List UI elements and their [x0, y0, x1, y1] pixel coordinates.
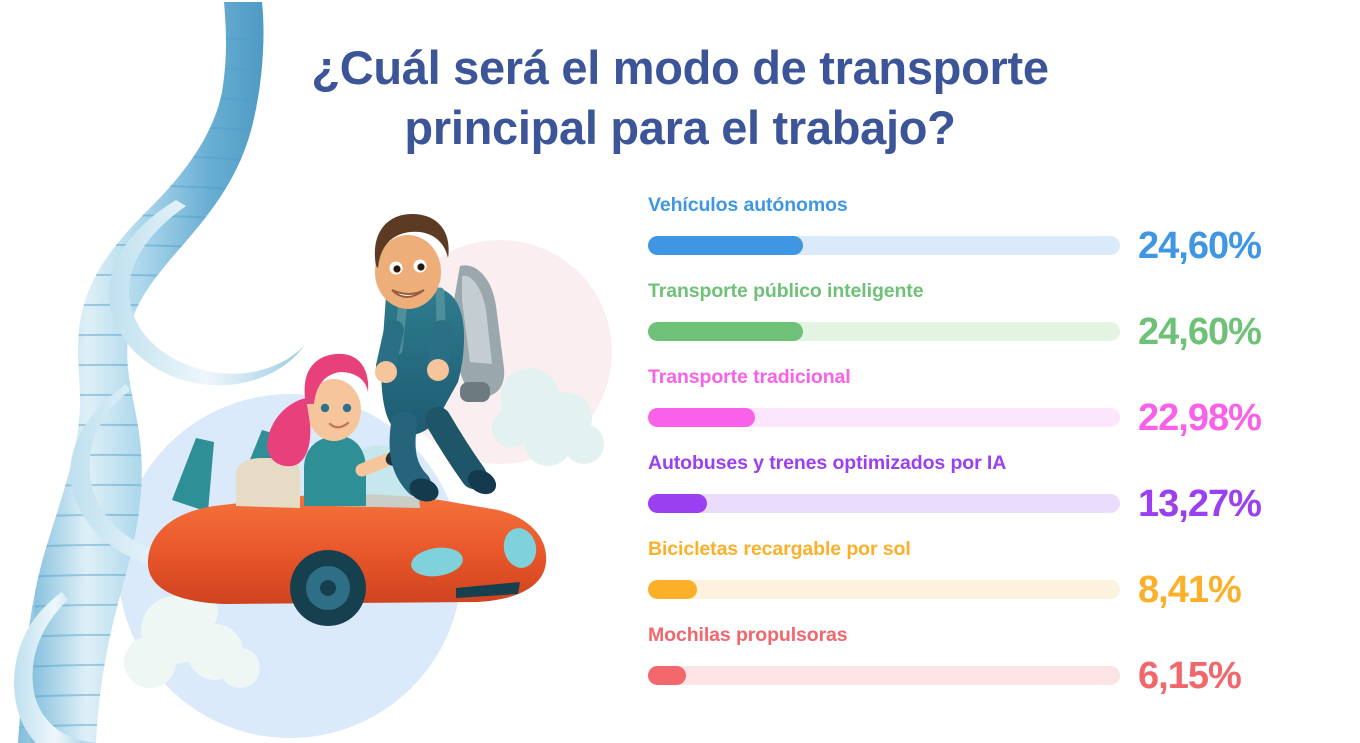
tower-spiral-upper	[109, 200, 304, 385]
girl-driver	[267, 354, 417, 506]
jetpack-man-fist-right	[427, 359, 449, 381]
bar-row: Transporte tradicional22,98%	[648, 368, 1320, 454]
bar-track	[648, 494, 1120, 513]
jetpack-man-leg-left	[403, 424, 418, 484]
bar-row-label: Mochilas propulsoras	[648, 626, 1320, 657]
car-body	[148, 494, 546, 604]
bar-fill	[648, 666, 686, 685]
bar-track	[648, 236, 1120, 255]
steering-wheel	[383, 442, 418, 470]
jetpack-man-arm-right	[438, 330, 442, 364]
bar-row: Transporte público inteligente24,60%	[648, 282, 1320, 368]
girl-eye-left	[321, 404, 329, 412]
bar-line: 8,41%	[648, 571, 1320, 609]
bar-row-label: Bicicletas recargable por sol	[648, 540, 1320, 571]
page-title: ¿Cuál será el modo de transporte princip…	[180, 38, 1180, 158]
bar-fill	[648, 408, 755, 427]
bar-chart: Vehículos autónomos24,60%Transporte públ…	[648, 196, 1320, 712]
jetpack-man-eye-right	[417, 263, 424, 270]
bar-row: Autobuses y trenes optimizados por IA13,…	[648, 454, 1320, 540]
jetpack-man-smile	[392, 290, 424, 297]
bar-fill	[648, 236, 803, 255]
bar-track	[648, 408, 1120, 427]
bar-line: 6,15%	[648, 657, 1320, 695]
jetpack-man-hair	[375, 214, 449, 268]
page-title-line-2: principal para el trabajo?	[180, 98, 1180, 158]
flying-car-girl-illustration	[124, 354, 546, 688]
jetpack-strap-right	[440, 292, 442, 348]
bar-row-label: Transporte tradicional	[648, 368, 1320, 399]
infographic-page: ¿Cuál será el modo de transporte princip…	[0, 0, 1360, 743]
bar-value-label: 6,15%	[1138, 657, 1241, 695]
jetpack-man-face	[375, 235, 441, 309]
bar-value-label: 22,98%	[1138, 399, 1261, 437]
jetpack-man-torso	[381, 285, 464, 435]
girl-smile	[330, 423, 348, 427]
bar-value-label: 13,27%	[1138, 485, 1261, 523]
bar-value-label: 24,60%	[1138, 313, 1261, 351]
jetpack-man-shoe-left	[406, 475, 442, 506]
girl-shirt	[304, 436, 366, 506]
jetpack-man-leg-right	[438, 420, 474, 476]
bar-row-label: Vehículos autónomos	[648, 196, 1320, 227]
girl-eye-right	[343, 404, 351, 412]
jetpack-man-illustration	[375, 214, 604, 505]
car-headlight-front	[500, 525, 540, 571]
jetpack-pack	[454, 265, 504, 402]
bar-row: Mochilas propulsoras6,15%	[648, 626, 1320, 712]
page-title-line-1: ¿Cuál será el modo de transporte	[180, 38, 1180, 98]
bar-line: 13,27%	[648, 485, 1320, 523]
car-exhaust-cloud	[124, 590, 260, 688]
bar-fill	[648, 322, 803, 341]
bar-value-label: 8,41%	[1138, 571, 1241, 609]
car-backdrop-circle	[118, 394, 462, 738]
bar-track	[648, 580, 1120, 599]
jetpack-backdrop-circle	[388, 240, 612, 464]
car-windshield	[330, 445, 420, 508]
car-fin-right	[236, 430, 282, 506]
girl-face	[307, 379, 361, 441]
bar-fill	[648, 494, 707, 513]
jetpack-man-fist-left	[375, 361, 397, 383]
bar-track	[648, 666, 1120, 685]
bar-row: Vehículos autónomos24,60%	[648, 196, 1320, 282]
car-seat	[236, 458, 300, 508]
bar-line: 22,98%	[648, 399, 1320, 437]
car-grille	[456, 582, 520, 598]
jetpack-strap-left	[398, 292, 404, 350]
girl-arm	[362, 458, 392, 470]
jetpack-man-arm-left	[386, 330, 394, 366]
car-headlight-rear	[409, 545, 464, 580]
bar-line: 24,60%	[648, 227, 1320, 265]
bar-row-label: Autobuses y trenes optimizados por IA	[648, 454, 1320, 485]
car-fin-left	[172, 438, 214, 512]
bar-value-label: 24,60%	[1138, 227, 1261, 265]
bar-row: Bicicletas recargable por sol8,41%	[648, 540, 1320, 626]
tower-spiral-lower	[70, 384, 272, 569]
jetpack-exhaust-cloud	[492, 368, 604, 466]
girl-hair-top	[305, 354, 369, 404]
jetpack-man-eye-left	[393, 265, 400, 272]
bar-fill	[648, 580, 697, 599]
girl-hair-back	[267, 398, 310, 466]
bar-row-label: Transporte público inteligente	[648, 282, 1320, 313]
tower-spiral-base	[14, 592, 96, 743]
bar-line: 24,60%	[648, 313, 1320, 351]
car-wheel	[290, 550, 366, 626]
bar-track	[648, 322, 1120, 341]
jetpack-man-shoe-right	[464, 465, 501, 499]
